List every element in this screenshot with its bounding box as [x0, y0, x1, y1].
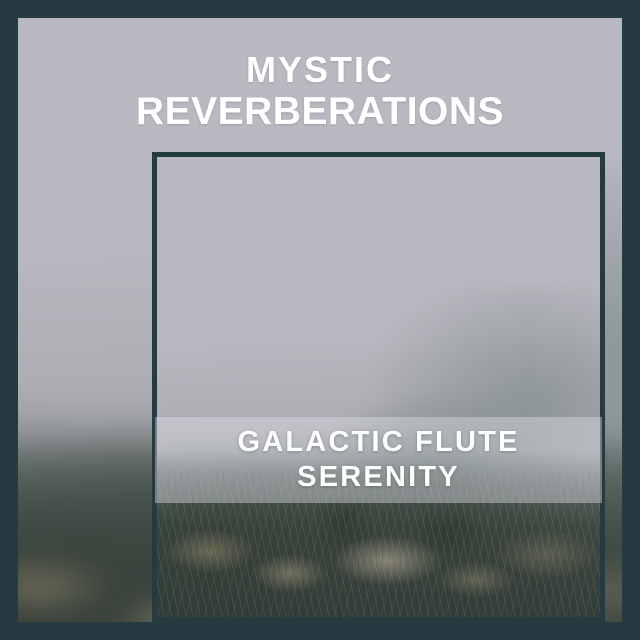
inner-photo [157, 157, 600, 617]
inner-grass [157, 470, 600, 617]
inner-scene [157, 157, 600, 617]
album-cover: MYSTIC REVERBERATIONS GALACTIC FLUTE SER… [0, 0, 640, 640]
inner-photo-frame [152, 152, 605, 622]
